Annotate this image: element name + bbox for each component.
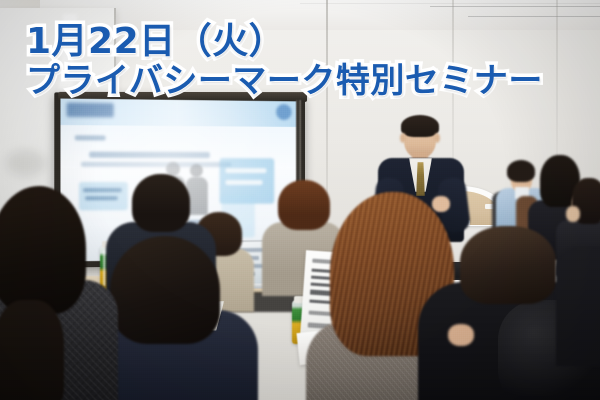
ceiling-seam [468, 16, 600, 17]
caption-line-date: 1月22日（火） [26, 24, 543, 61]
wall-shadow [6, 150, 46, 176]
caption-overlay: 1月22日（火） プライバシーマーク特別セミナー [26, 24, 543, 98]
slide-text-line [89, 152, 210, 158]
slide-title-text [67, 103, 114, 118]
attendee-edge-right [556, 246, 600, 366]
ceiling-seam [430, 6, 600, 7]
attendee-hair-lower [0, 300, 64, 400]
slide-text-line [85, 196, 118, 200]
slide-text-line [81, 162, 231, 167]
slide-text-line [225, 168, 266, 173]
presenter-ear [400, 133, 406, 143]
ceiling-seam [300, 3, 600, 4]
wall-seam [556, 0, 558, 170]
slide-figure-head [190, 164, 203, 177]
presenter-hair [401, 115, 439, 137]
attendee-hair [132, 174, 190, 232]
slide-text-line [83, 188, 122, 192]
photo-canvas: 1月22日（火） プライバシーマーク特別セミナー [0, 0, 600, 400]
attendee-hand [448, 324, 474, 346]
slide-text-line [225, 180, 262, 185]
attendee-hair [110, 236, 220, 344]
slide-text-line [75, 135, 106, 140]
attendee-hair [278, 180, 330, 230]
presenter-hand [432, 196, 450, 212]
presenter-ear [434, 133, 440, 143]
attendee-hair [460, 226, 556, 304]
attendee-hair [507, 160, 535, 182]
attendee-hand [566, 206, 580, 222]
caption-line-title: プライバシーマーク特別セミナー [26, 64, 543, 99]
slide-logo-icon [276, 104, 291, 120]
attendee-hair [0, 186, 86, 314]
